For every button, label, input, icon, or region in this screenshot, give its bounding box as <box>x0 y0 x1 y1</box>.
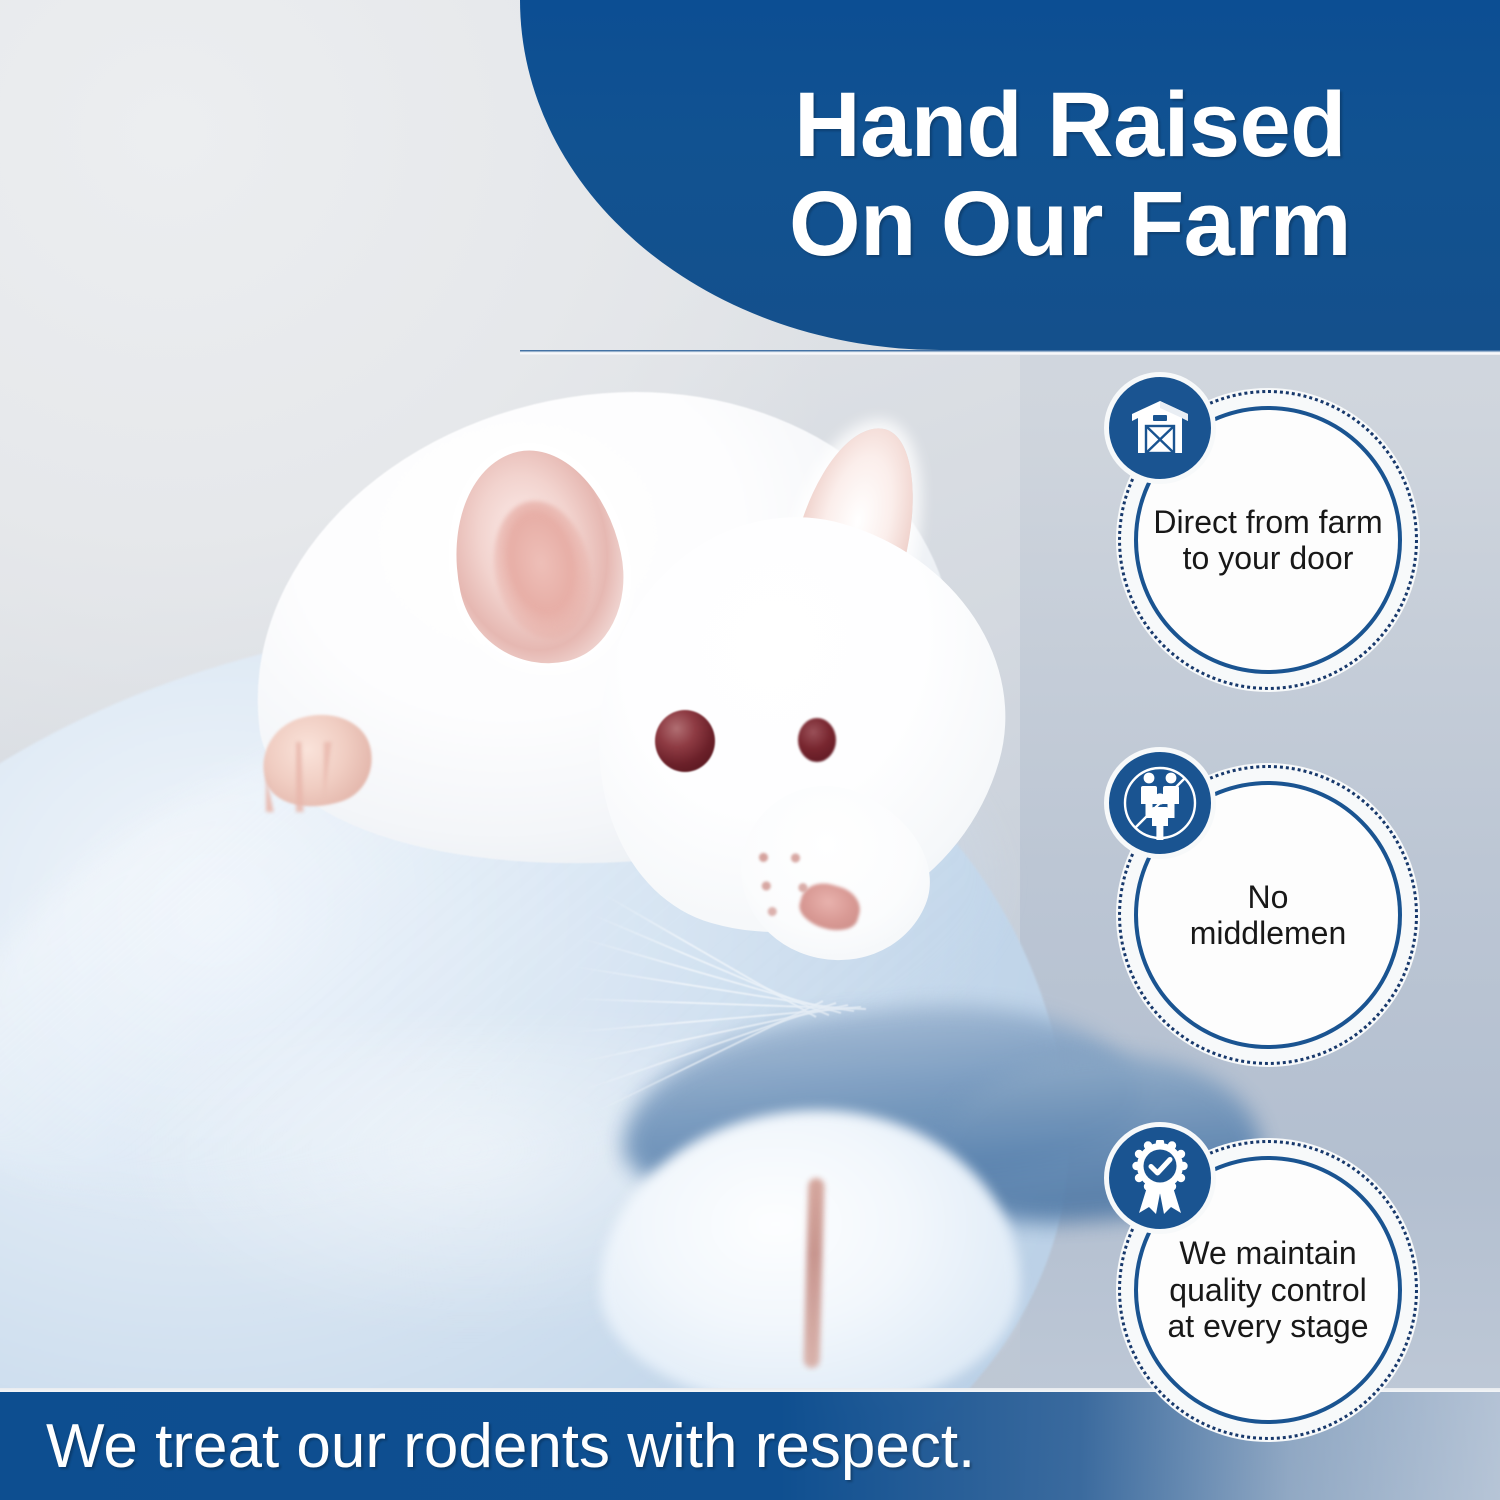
barn-icon <box>1104 372 1216 484</box>
award-ribbon-icon <box>1104 1122 1216 1234</box>
mouse-eye-right <box>798 718 836 762</box>
header-title-line-2: On Our Farm <box>789 175 1351 274</box>
promo-graphic: Hand Raised On Our Farm Direct from farm… <box>0 0 1500 1500</box>
no-middlemen-icon <box>1104 747 1216 859</box>
header-banner-underline <box>520 350 1500 355</box>
mouse-paw-toes <box>258 742 378 812</box>
header-title-line-1: Hand Raised <box>794 76 1346 175</box>
feature-badge-no-middlemen[interactable]: No middlemen <box>1118 765 1418 1065</box>
mouse-eye-left <box>655 710 715 772</box>
feature-badge-quality-control[interactable]: We maintain quality control at every sta… <box>1118 1140 1418 1440</box>
feature-badge-farm[interactable]: Direct from farm to your door <box>1118 390 1418 690</box>
mouse-whiskers <box>560 880 980 1140</box>
footer-tagline: We treat our rodents with respect. <box>0 1411 975 1482</box>
